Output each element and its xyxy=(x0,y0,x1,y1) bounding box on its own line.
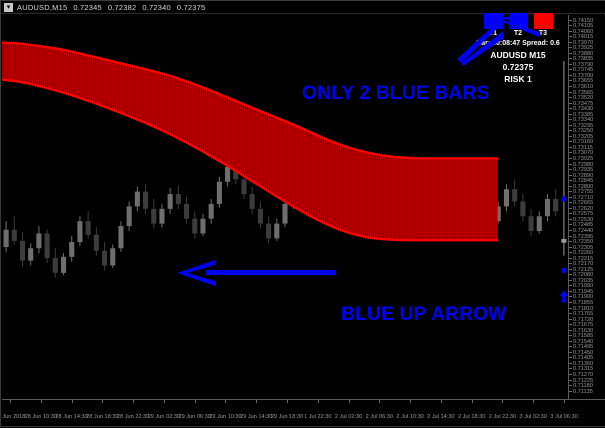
candle-body xyxy=(274,224,279,239)
candle-body xyxy=(553,199,558,211)
candle-body xyxy=(217,182,222,204)
price-axis[interactable]: 0.741500.741050.740600.740150.739700.739… xyxy=(568,15,605,399)
candle-body xyxy=(225,167,230,182)
time-tick-mark xyxy=(41,400,42,403)
time-tick-mark xyxy=(133,400,134,403)
time-tick-label: 29 Jun 02:30 xyxy=(148,414,180,420)
candle-body xyxy=(69,242,74,257)
bar-spread-line: Bar: 00:08:47 Spread: 0.6 xyxy=(472,39,564,49)
time-tick-label: 2 Jul 18:30 xyxy=(458,414,485,420)
time-tick-mark xyxy=(10,400,11,403)
window-menu-icon[interactable]: ▾ xyxy=(4,3,13,12)
candle-body xyxy=(77,221,82,242)
candle-body xyxy=(176,194,181,204)
candle-body xyxy=(36,233,41,248)
time-tick-label: 2 Jul 10:30 xyxy=(396,414,423,420)
candle-body xyxy=(504,189,509,206)
time-tick-mark xyxy=(533,400,534,403)
target-swatch-t2 xyxy=(509,13,528,29)
candle-body xyxy=(151,209,156,224)
annotation-only-2-blue-bars: ONLY 2 BLUE BARS xyxy=(302,83,489,105)
symbol-timeframe-line: AUDUSD M15 xyxy=(472,49,564,61)
candle-body xyxy=(250,194,255,209)
time-tick-label: 28 Jun 2018 xyxy=(2,414,25,420)
candle-body xyxy=(184,204,189,219)
candle-body xyxy=(520,201,525,216)
candle-body xyxy=(28,248,33,260)
candle-body xyxy=(545,199,550,216)
time-tick-mark xyxy=(472,400,473,403)
blue-dot-lower xyxy=(561,268,566,273)
time-tick-label: 1 Jul 22:30 xyxy=(304,414,331,420)
candle-body xyxy=(241,179,246,194)
time-tick-label: 29 Jun 10:30 xyxy=(209,414,241,420)
candle-body xyxy=(200,219,205,234)
time-axis[interactable]: 28 Jun 201828 Jun 10:3028 Jun 14:3028 Ju… xyxy=(2,399,605,426)
title-part-1: 0.72345 xyxy=(73,3,102,12)
time-tick-mark xyxy=(287,400,288,403)
candle-body xyxy=(12,230,17,241)
title-part-3: 0.72340 xyxy=(142,3,171,12)
candle-body xyxy=(102,251,107,266)
time-tick-mark xyxy=(349,400,350,403)
time-tick-mark xyxy=(441,400,442,403)
target-labels: T1T2T3 xyxy=(472,30,564,37)
time-tick-mark xyxy=(225,400,226,403)
chart-title-text: AUDUSD,M150.723450.723820.723400.72375 xyxy=(17,3,211,12)
annotation-blue-up-arrow: BLUE UP ARROW xyxy=(341,304,506,326)
candle-body xyxy=(266,224,271,239)
candle-body xyxy=(209,204,214,219)
metatrader-chart-window: ▾ AUDUSD,M150.723450.723820.723400.72375… xyxy=(0,0,605,427)
target-swatch-t1 xyxy=(484,13,503,29)
candle-body xyxy=(20,241,25,261)
time-tick-label: 2 Jul 02:30 xyxy=(335,414,362,420)
time-tick-label: 2 Jul 06:30 xyxy=(366,414,393,420)
time-tick-mark xyxy=(564,400,565,403)
time-tick-mark xyxy=(164,400,165,403)
target-label-t3: T3 xyxy=(534,30,553,37)
candle-body xyxy=(110,248,115,265)
time-tick-mark xyxy=(379,400,380,403)
blue-dot-upper xyxy=(561,196,566,201)
price-tick: 0.71135 xyxy=(569,389,593,395)
time-tick-label: 29 Jun 14:30 xyxy=(240,414,272,420)
candle-body xyxy=(135,192,140,207)
candle-body xyxy=(127,206,132,226)
time-tick-label: 28 Jun 22:30 xyxy=(117,414,149,420)
candle-body xyxy=(282,204,287,224)
channel-band-fill xyxy=(2,43,497,241)
time-tick-label: 2 Jul 14:30 xyxy=(427,414,454,420)
target-label-t1: T1 xyxy=(484,30,503,37)
candle-body xyxy=(168,194,173,209)
time-tick-mark xyxy=(195,400,196,403)
price-tick-label: 0.71135 xyxy=(573,389,593,395)
title-part-0: AUDUSD,M15 xyxy=(17,3,67,12)
candle-body xyxy=(118,226,123,248)
time-tick-mark xyxy=(502,400,503,403)
time-tick-label: 28 Jun 18:30 xyxy=(86,414,118,420)
candle-body xyxy=(94,235,99,251)
candle-body xyxy=(561,239,566,243)
time-tick-label: 3 Jul 06:30 xyxy=(550,414,577,420)
time-tick-label: 2 Jul 22:30 xyxy=(489,414,516,420)
title-part-2: 0.72382 xyxy=(108,3,137,12)
candle-body xyxy=(258,209,263,224)
candle-body xyxy=(529,216,534,231)
time-tick-mark xyxy=(102,400,103,403)
candle-body xyxy=(512,189,517,201)
time-tick-mark xyxy=(256,400,257,403)
candle-body xyxy=(4,230,9,247)
time-tick-label: 29 Jun 18:30 xyxy=(271,414,303,420)
blue-up-arrow-marker xyxy=(559,290,568,302)
time-tick-mark xyxy=(410,400,411,403)
candle-body xyxy=(159,209,164,224)
time-tick-mark xyxy=(318,400,319,403)
title-part-4: 0.72375 xyxy=(177,3,206,12)
time-tick-mark xyxy=(72,400,73,403)
indicator-info-panel: T1T2T3 Bar: 00:08:47 Spread: 0.6 AUDUSD … xyxy=(472,13,564,85)
candle-body xyxy=(537,216,542,231)
time-tick-label: 29 Jun 06:30 xyxy=(178,414,210,420)
candle-body xyxy=(61,257,66,273)
candle-body xyxy=(192,219,197,234)
target-label-t2: T2 xyxy=(509,30,528,37)
candle-body xyxy=(45,233,50,258)
candle-body xyxy=(53,258,58,273)
time-tick-label: 28 Jun 14:30 xyxy=(55,414,87,420)
target-swatch-t3 xyxy=(534,13,553,29)
time-tick-label: 3 Jul 02:30 xyxy=(520,414,547,420)
candle-body xyxy=(86,221,91,235)
candle-body xyxy=(143,192,148,209)
target-swatches xyxy=(472,13,564,29)
current-price-line: 0.72375 xyxy=(472,61,564,73)
time-tick-label: 28 Jun 10:30 xyxy=(25,414,57,420)
